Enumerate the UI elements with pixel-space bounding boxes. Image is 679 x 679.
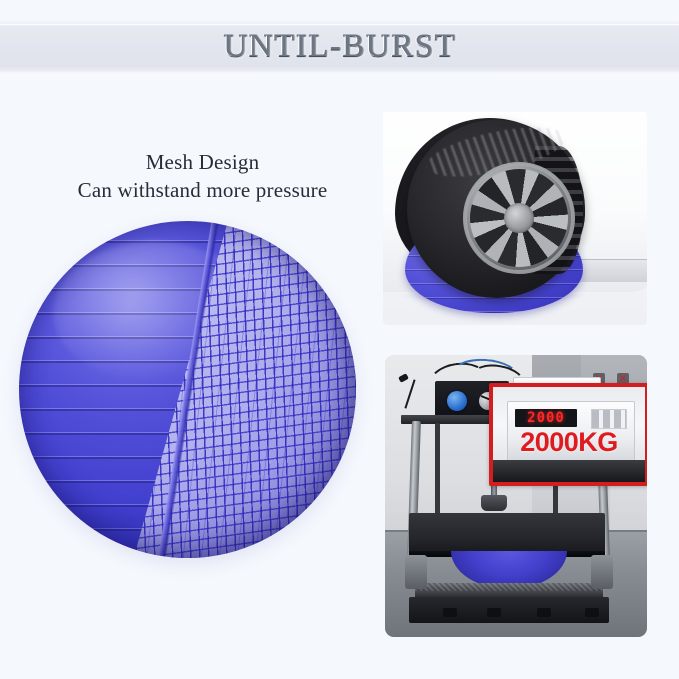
caster-3 [537, 608, 551, 617]
ball-edge-shading [19, 221, 356, 558]
car-tire-photo [383, 112, 647, 325]
caster-4 [585, 608, 599, 617]
blue-pressure-gauge [447, 391, 467, 411]
callout-shelf-edge [493, 460, 645, 482]
caster-2 [487, 608, 501, 617]
compression-test-photo: ✕ ✕ 2000 2000 2000KG [385, 355, 647, 637]
caster-1 [443, 608, 457, 617]
callout-digital-readout: 2000 [515, 409, 577, 427]
rig-base [409, 597, 609, 623]
exercise-ball-illustration [19, 221, 356, 558]
ram-foot [481, 495, 507, 511]
press-plate [409, 513, 605, 555]
alloy-wheel-rim [463, 162, 575, 274]
rig-foot-left [405, 555, 427, 589]
caption-line-2: Can withstand more pressure [30, 176, 375, 204]
ball-body [19, 221, 356, 558]
tire [407, 120, 585, 298]
mesh-design-caption: Mesh Design Can withstand more pressure [30, 148, 375, 204]
caption-line-1: Mesh Design [30, 148, 375, 176]
rig-foot-right [591, 555, 613, 589]
lower-platform-texture [415, 583, 603, 591]
load-readout-callout: 2000 2000KG [489, 383, 647, 486]
page-title: UNTIL-BURST [0, 24, 679, 68]
wheel-hub-cap [504, 203, 534, 233]
load-value-label: 2000KG [493, 427, 645, 457]
callout-keypad [591, 409, 627, 429]
